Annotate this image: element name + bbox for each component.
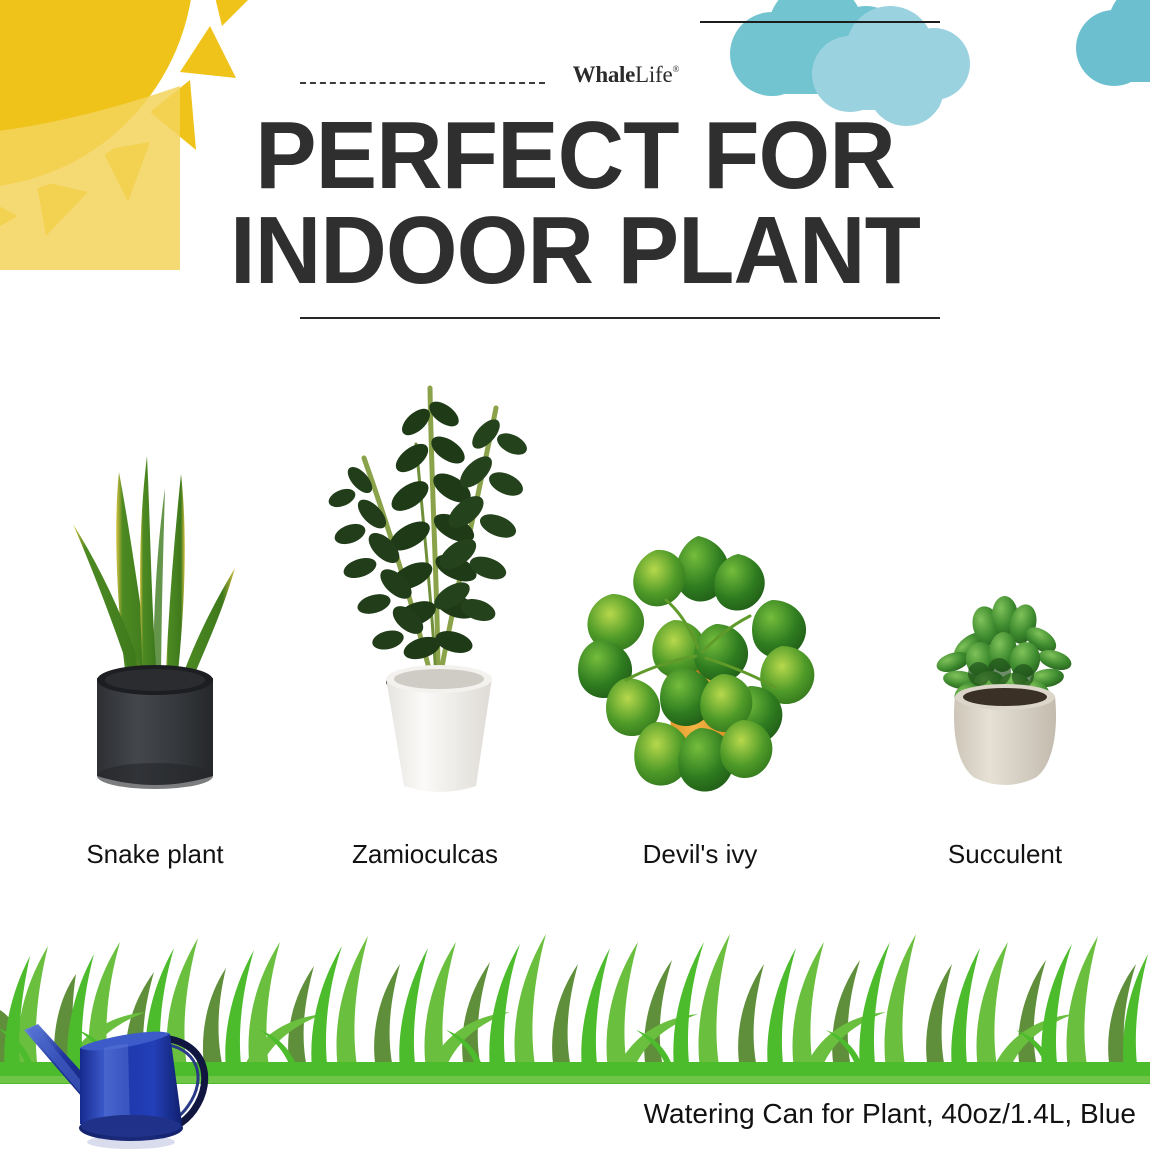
succulent-image bbox=[925, 568, 1085, 798]
plant-item-succulent: Succulent bbox=[900, 340, 1110, 870]
plant-item-zamioculcas: Zamioculcas bbox=[310, 340, 540, 870]
dashed-rule-icon bbox=[300, 82, 545, 84]
plant-label-zamioculcas: Zamioculcas bbox=[310, 839, 540, 870]
plant-item-devils-ivy: Devil's ivy bbox=[565, 340, 835, 870]
solid-rule-icon bbox=[700, 21, 940, 23]
plant-label-snake-plant: Snake plant bbox=[40, 839, 270, 870]
plant-label-devils-ivy: Devil's ivy bbox=[565, 839, 835, 870]
plant-gallery: Snake plant bbox=[0, 340, 1150, 870]
brand-name-bold: Whale bbox=[573, 62, 635, 87]
registered-trademark-icon: ® bbox=[673, 64, 680, 74]
brand-header: WhaleLife® bbox=[0, 62, 1150, 102]
brand-name-light: Life bbox=[635, 62, 673, 87]
brand-logo: WhaleLife® bbox=[556, 62, 696, 88]
title-divider bbox=[300, 317, 940, 319]
snake-plant-image bbox=[55, 428, 255, 798]
product-caption: Watering Can for Plant, 40oz/1.4L, Blue bbox=[644, 1098, 1136, 1130]
devils-ivy-image bbox=[570, 528, 830, 798]
title-line-1: PERFECT FOR bbox=[23, 108, 1127, 203]
plant-item-snake-plant: Snake plant bbox=[40, 340, 270, 870]
plant-label-succulent: Succulent bbox=[900, 839, 1110, 870]
title-line-2: INDOOR PLANT bbox=[23, 203, 1127, 298]
page-title: PERFECT FOR INDOOR PLANT bbox=[0, 108, 1150, 298]
zamioculcas-image bbox=[320, 348, 530, 798]
grass-band bbox=[0, 890, 1150, 1085]
infographic-page: WhaleLife® PERFECT FOR INDOOR PLANT bbox=[0, 0, 1150, 1150]
watering-can-image bbox=[18, 1018, 238, 1150]
